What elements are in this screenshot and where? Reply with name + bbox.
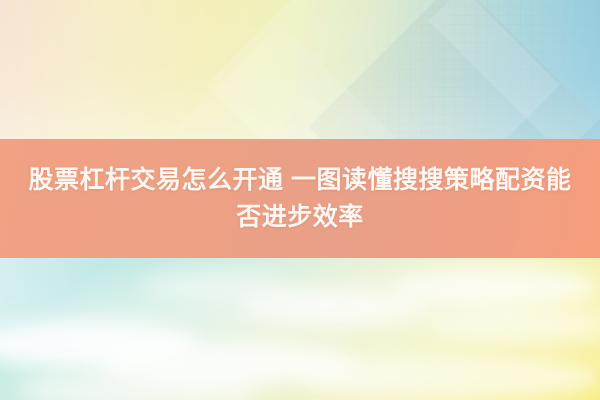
sky-haze-overlay — [0, 258, 600, 400]
page-title: 股票杠杆交易怎么开通 一图读懂搜搜策略配资能否进步效率 — [18, 162, 582, 236]
bottom-sky-panel — [0, 258, 600, 400]
title-band: 股票杠杆交易怎么开通 一图读懂搜搜策略配资能否进步效率 — [0, 139, 600, 258]
top-panel-fade — [0, 0, 600, 142]
article-header-banner: 股票杠杆交易怎么开通 一图读懂搜搜策略配资能否进步效率 — [0, 0, 600, 400]
